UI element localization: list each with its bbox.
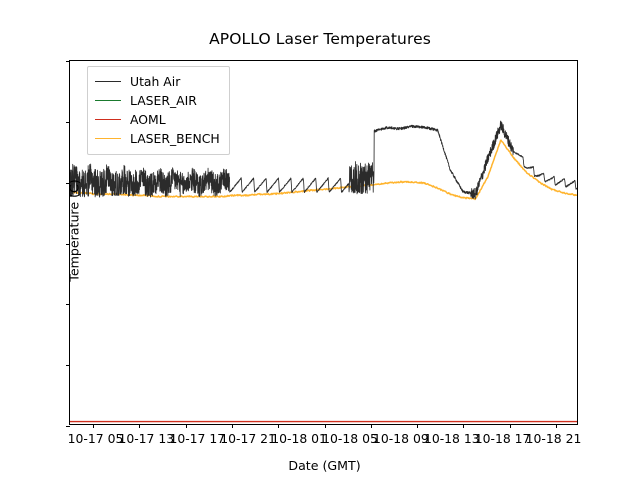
legend-item-label: Utah Air (130, 72, 180, 91)
figure-canvas: APOLLO Laser Temperatures Temperature (C… (0, 0, 640, 480)
y-tick-mark (66, 365, 70, 366)
x-tick-mark (278, 424, 279, 428)
x-tick-mark (139, 424, 140, 428)
x-tick-mark (186, 424, 187, 428)
legend-item-label: LASER_BENCH (130, 129, 220, 148)
legend-item-label: LASER_AIR (130, 91, 197, 110)
legend-color-swatch (95, 81, 121, 82)
x-tick-label: 10-18 09 (373, 431, 429, 446)
legend-item[interactable]: LASER_AIR (95, 91, 220, 110)
x-tick-label: 10-17 17 (169, 431, 225, 446)
x-tick-label: 10-18 21 (526, 431, 582, 446)
legend-item[interactable]: LASER_BENCH (95, 129, 220, 148)
x-tick-mark (371, 424, 372, 428)
x-tick-mark (93, 424, 94, 428)
x-tick-mark (463, 424, 464, 428)
x-tick-label: 10-18 05 (322, 431, 378, 446)
x-tick-label: 10-17 05 (68, 431, 124, 446)
legend-item[interactable]: Utah Air (95, 72, 220, 91)
x-tick-label: 10-18 17 (475, 431, 531, 446)
y-axis-label: Temperature (C) (67, 0, 82, 471)
y-tick-mark (66, 304, 70, 305)
x-tick-label: 10-18 13 (424, 431, 480, 446)
x-axis-label: Date (GMT) (70, 458, 579, 473)
x-tick-label: 10-18 01 (271, 431, 327, 446)
legend-item[interactable]: AOML (95, 110, 220, 129)
y-tick-mark (66, 426, 70, 427)
legend: Utah AirLASER_AIRAOMLLASER_BENCH (87, 66, 230, 155)
x-tick-mark (556, 424, 557, 428)
y-tick-mark (66, 122, 70, 123)
x-tick-label: 10-17 21 (220, 431, 276, 446)
legend-color-swatch (95, 100, 121, 101)
legend-color-swatch (95, 119, 121, 120)
x-tick-mark (510, 424, 511, 428)
x-tick-mark (325, 424, 326, 428)
y-tick-mark (66, 244, 70, 245)
plot-area: Temperature (C) Date (GMT) Utah AirLASER… (69, 60, 578, 425)
chart-title: APOLLO Laser Temperatures (0, 30, 640, 48)
y-tick-mark (66, 183, 70, 184)
x-tick-mark (417, 424, 418, 428)
x-tick-mark (232, 424, 233, 428)
legend-color-swatch (95, 138, 121, 139)
x-tick-label: 10-17 13 (118, 431, 174, 446)
legend-item-label: AOML (130, 110, 166, 129)
y-tick-mark (66, 61, 70, 62)
